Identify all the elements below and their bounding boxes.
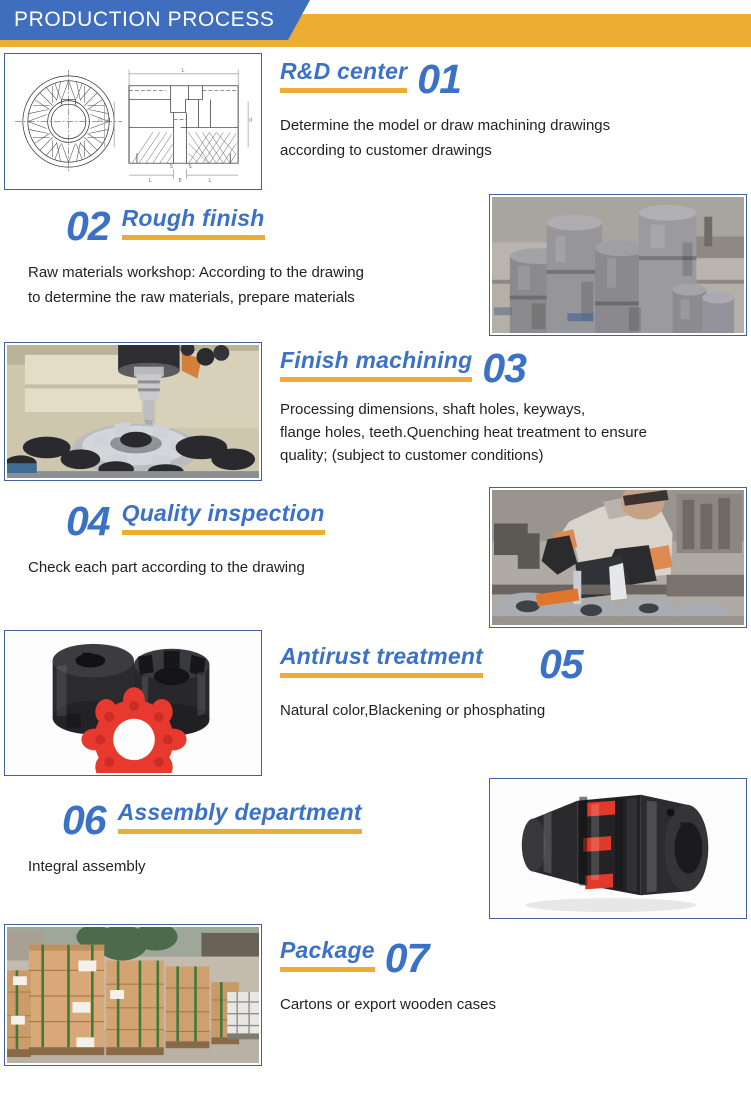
step-description-line: quality; (subject to customer conditions… [280,444,751,467]
step-description-line: Natural color,Blackening or phosphating [280,698,751,723]
step-heading: Rough finish 02 [0,204,489,246]
step-description-line: Integral assembly [28,854,489,879]
coupling-technical-drawing: L L L E d D d S S [4,53,262,190]
step-title-wrap: R&D center [280,57,407,93]
cnc-machining-illustration [7,345,259,478]
step-description: Check each part according to the drawing [0,555,489,580]
header-blue-banner: PRODUCTION PROCESS [0,0,310,40]
coupling-parts-illustration [7,633,259,773]
title-underline [118,829,362,834]
step-title: Finish machining [280,346,472,374]
step-description: Integral assembly [0,854,489,879]
packaging-warehouse-illustration [7,927,259,1063]
packed-cartons-warehouse-photo [4,924,262,1066]
step-title: Quality inspection [122,499,325,527]
svg-text:D: D [98,117,102,123]
step-description: Determine the model or draw machining dr… [280,113,751,163]
process-step-row: Antirust treatment 05 Natural color,Blac… [0,630,751,778]
page-title: PRODUCTION PROCESS [0,8,275,32]
process-step-row: Quality inspection 04 Check each part ac… [0,485,751,630]
svg-text:L: L [182,68,185,74]
step-text-block: Assembly department 06 Integral assembly [0,778,489,922]
process-step-row: Package 07 Cartons or export wooden case… [0,922,751,1072]
process-step-row: Rough finish 02 Raw materials workshop: … [0,192,751,340]
step-description-line: Raw materials workshop: According to the… [28,260,489,285]
step-title-wrap: Package [280,936,375,972]
title-underline [280,967,375,972]
process-step-row: Finish machining 03 Processing dimension… [0,340,751,485]
step-heading: Package 07 [280,936,751,978]
step-description-line: to determine the raw materials, prepare … [28,285,489,310]
svg-text:S: S [189,164,192,170]
steel-billets-illustration [492,197,744,333]
title-underline [122,530,325,535]
step-description-line: according to customer drawings [280,138,751,163]
step-description: Processing dimensions, shaft holes, keyw… [280,398,751,467]
step-number: 06 [62,800,106,840]
step-number: 03 [482,348,526,388]
step-description-line: Check each part according to the drawing [28,555,489,580]
step-title: Package [280,936,375,964]
coupling-hubs-and-red-spider-photo [4,630,262,776]
step-text-block: Quality inspection 04 Check each part ac… [0,485,489,630]
step-heading: Quality inspection 04 [0,499,489,541]
step-description-line: Processing dimensions, shaft holes, keyw… [280,398,751,421]
step-title-wrap: Quality inspection [122,499,325,535]
step-title: Assembly department [118,798,362,826]
svg-text:d: d [249,117,252,123]
step-description-line: Determine the model or draw machining dr… [280,113,751,138]
svg-text:S: S [170,164,173,170]
process-step-row: Assembly department 06 Integral assembly [0,778,751,922]
step-title-wrap: Antirust treatment [280,642,483,678]
title-underline [280,377,472,382]
worker-inspecting-parts-photo [489,487,747,628]
step-description: Natural color,Blackening or phosphating [280,698,751,723]
svg-text:E: E [179,178,182,184]
step-heading: Assembly department 06 [0,798,489,840]
step-number: 01 [417,59,461,99]
step-description: Cartons or export wooden cases [280,992,751,1017]
page-header: PRODUCTION PROCESS [0,0,751,47]
step-text-block: Antirust treatment 05 Natural color,Blac… [262,630,751,778]
svg-text:L: L [149,178,152,184]
step-heading: R&D center 01 [280,57,751,99]
step-description-line: Cartons or export wooden cases [280,992,751,1017]
step-number: 07 [385,938,429,978]
step-description: Raw materials workshop: According to the… [0,260,489,310]
step-number: 04 [66,501,110,541]
step-title-wrap: Assembly department [118,798,362,834]
title-underline [280,673,483,678]
svg-text:L: L [208,178,211,184]
assembled-coupling-photo [489,778,747,919]
process-step-row: L L L E d D d S S R&D center 01 Det [0,47,751,192]
step-heading: Antirust treatment 05 [280,642,751,684]
svg-text:d: d [107,117,110,123]
assembled-coupling-illustration [492,781,744,916]
quality-inspection-illustration [492,490,744,625]
step-text-block: R&D center 01 Determine the model or dra… [262,47,751,192]
step-number: 05 [539,644,583,684]
step-text-block: Package 07 Cartons or export wooden case… [262,922,751,1072]
title-underline [280,88,407,93]
step-text-block: Rough finish 02 Raw materials workshop: … [0,192,489,340]
step-title-wrap: Finish machining [280,346,472,382]
technical-drawing-svg: L L L E d D d S S [7,56,259,187]
steel-billet-stacks-photo [489,194,747,336]
step-text-block: Finish machining 03 Processing dimension… [262,340,751,485]
step-title: Antirust treatment [280,642,483,670]
step-heading: Finish machining 03 [280,346,751,388]
step-title: R&D center [280,57,407,85]
step-title-wrap: Rough finish [122,204,265,240]
step-number: 02 [66,206,110,246]
title-underline [122,235,265,240]
step-title: Rough finish [122,204,265,232]
cnc-milling-machine-photo [4,342,262,481]
step-description-line: flange holes, teeth.Quenching heat treat… [280,421,751,444]
